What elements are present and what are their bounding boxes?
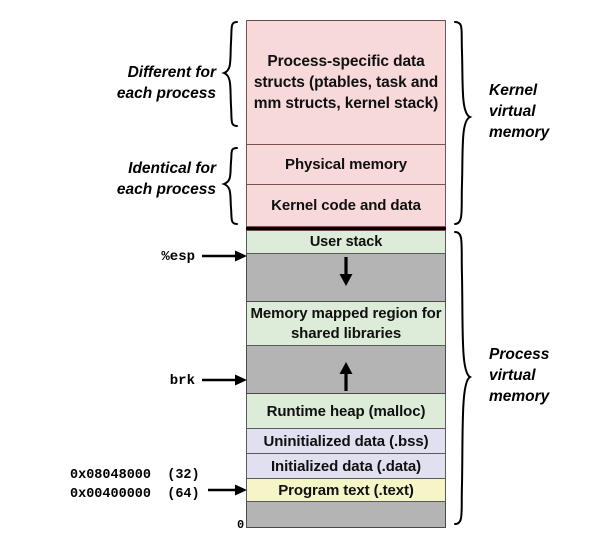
block-label: Memory mapped region for shared librarie… — [247, 304, 445, 344]
esp-pointer-arrow-icon — [202, 251, 247, 262]
stack-growth-down-arrow-icon — [338, 256, 354, 288]
block-process-specific-data: Process-specific data structs (ptables, … — [246, 20, 446, 145]
block-uninitialized-data: Uninitialized data (.bss) — [246, 429, 446, 454]
diagram-canvas: Process-specific data structs (ptables, … — [0, 0, 602, 555]
block-user-stack: User stack — [246, 230, 446, 254]
block-label: Uninitialized data (.bss) — [263, 433, 428, 450]
address-text-start-32bit: 0x08048000 (32) — [70, 468, 200, 483]
pointer-label-brk: brk — [110, 373, 195, 389]
memory-layout-column: Process-specific data structs (ptables, … — [246, 20, 446, 528]
annotation-different-for-each-process: Different for each process — [88, 62, 216, 104]
brk-pointer-arrow-icon — [202, 375, 247, 386]
block-kernel-code-and-data: Kernel code and data — [246, 185, 446, 227]
block-heap-growth-gap — [246, 346, 446, 394]
heap-growth-up-arrow-icon — [338, 360, 354, 392]
block-stack-growth-gap — [246, 254, 446, 302]
annotation-process-virtual-memory: Process virtual memory — [489, 344, 599, 407]
block-label: User stack — [310, 234, 382, 250]
block-reserved-bottom — [246, 502, 446, 528]
block-label: Physical memory — [285, 156, 407, 173]
right-brace-kernel-virtual-memory-icon — [455, 22, 470, 224]
block-memory-mapped-region: Memory mapped region for shared librarie… — [246, 302, 446, 346]
annotation-identical-for-each-process: Identical for each process — [88, 158, 216, 200]
right-brace-process-virtual-memory-icon — [455, 232, 470, 524]
pointer-label-esp: %esp — [110, 249, 195, 265]
left-brace-different-icon — [224, 22, 237, 126]
block-label: Kernel code and data — [271, 197, 421, 214]
block-label: Process-specific data structs (ptables, … — [247, 51, 445, 114]
block-label: Initialized data (.data) — [271, 458, 421, 475]
annotation-kernel-virtual-memory: Kernel virtual memory — [489, 80, 599, 143]
block-program-text: Program text (.text) — [246, 479, 446, 502]
address-zero-label: 0 — [237, 518, 244, 532]
block-initialized-data: Initialized data (.data) — [246, 454, 446, 479]
block-label: Runtime heap (malloc) — [267, 403, 426, 420]
left-brace-identical-icon — [224, 148, 237, 224]
block-physical-memory: Physical memory — [246, 145, 446, 185]
block-runtime-heap: Runtime heap (malloc) — [246, 394, 446, 429]
address-text-start-64bit: 0x00400000 (64) — [70, 487, 200, 502]
block-label: Program text (.text) — [278, 482, 414, 499]
text-start-pointer-arrow-icon — [208, 485, 247, 496]
